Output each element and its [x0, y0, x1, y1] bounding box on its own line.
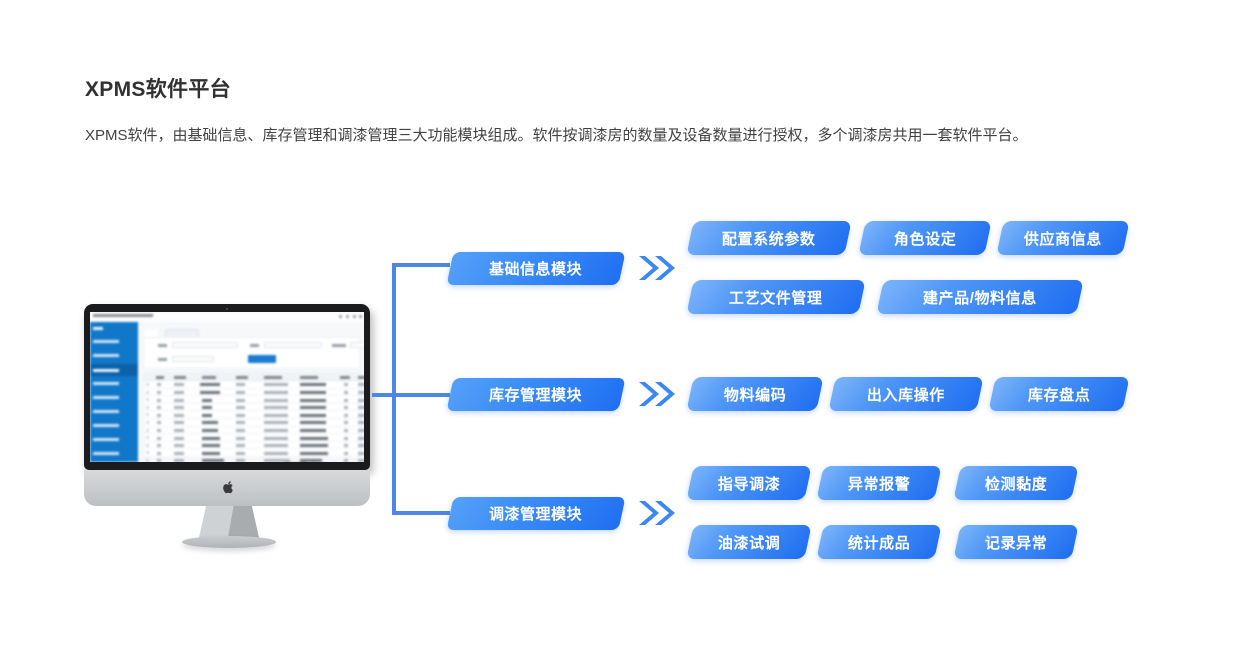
feature-pill-label: 供应商信息 [1024, 228, 1102, 249]
table-cell [157, 414, 161, 417]
table-row [144, 427, 359, 435]
row-checkbox [146, 398, 149, 401]
table-cell [344, 399, 348, 402]
table-cell [236, 459, 245, 462]
table-header-cell [300, 376, 318, 379]
table-cell [174, 391, 184, 394]
app-sidebar [90, 322, 138, 462]
table-cell [300, 406, 326, 409]
filter-label-1 [158, 344, 167, 347]
table-cell [358, 391, 364, 394]
feature-pill-inbound-outbound-operation[interactable]: 出入库操作 [828, 377, 983, 411]
table-cell [300, 414, 326, 417]
page-title: XPMS软件平台 [85, 73, 231, 103]
feature-pill-label: 物料编码 [724, 384, 786, 405]
table-cell [157, 452, 161, 455]
table-cell [174, 406, 184, 409]
feature-pill-paint-trial-mixing[interactable]: 油漆试调 [686, 525, 811, 559]
sidebar-item-2 [93, 354, 119, 357]
topbar-icon-2 [346, 315, 349, 318]
sidebar-item-8 [93, 438, 119, 441]
feature-pill-record-exception[interactable]: 记录异常 [953, 525, 1078, 559]
app-topbar [90, 312, 364, 322]
table-cell [264, 383, 288, 386]
table-cell [202, 444, 220, 447]
feature-pill-label: 统计成品 [848, 532, 910, 553]
feature-pill-label: 建产品/物料信息 [923, 287, 1037, 308]
filter-input-1 [172, 342, 238, 348]
table-cell [157, 383, 161, 386]
table-cell [236, 429, 245, 432]
table-cell [300, 383, 326, 386]
table-cell [202, 421, 218, 424]
table-cell [202, 429, 218, 432]
table-cell [200, 383, 220, 386]
table-cell [264, 437, 288, 440]
feature-pill-label: 油漆试调 [718, 532, 780, 553]
feature-pill-create-product-material-info[interactable]: 建产品/物料信息 [876, 280, 1083, 314]
double-chevron-right-icon [637, 253, 677, 283]
filter-input-2 [264, 342, 322, 348]
module-tag-label: 调漆管理模块 [489, 503, 582, 524]
table-cell [358, 444, 364, 447]
sidebar-item-4 [93, 382, 119, 385]
filter-label-5 [158, 358, 167, 361]
row-checkbox [146, 383, 149, 386]
double-chevron-right-icon [637, 379, 677, 409]
sidebar-item-active-label [93, 369, 119, 372]
feature-pill-role-setup[interactable]: 角色设定 [858, 221, 991, 255]
connector-vertical-line [392, 263, 396, 515]
topbar-icon-4 [359, 315, 362, 318]
table-header-cell [174, 376, 186, 379]
feature-pill-label: 工艺文件管理 [729, 287, 823, 308]
module-tag-basic-info[interactable]: 基础信息模块 [446, 252, 625, 285]
row-checkbox [146, 413, 149, 416]
table-cell [236, 452, 245, 455]
table-cell [157, 429, 161, 432]
table-row [144, 434, 359, 442]
table-cell [264, 444, 288, 447]
table-cell [236, 383, 245, 386]
feature-pill-guided-paint-mixing[interactable]: 指导调漆 [686, 466, 811, 500]
table-row [144, 404, 359, 412]
row-checkbox [146, 436, 149, 439]
table-cell [358, 452, 364, 455]
table-cell [344, 437, 348, 440]
slide-canvas: XPMS软件平台 XPMS软件，由基础信息、库存管理和调漆管理三大功能模块组成。… [0, 0, 1260, 650]
filter-label-3 [332, 344, 346, 347]
table-cell [157, 444, 161, 447]
filter-input-5 [172, 356, 214, 362]
table-row [144, 419, 359, 427]
table-cell [174, 429, 184, 432]
table-cell [174, 421, 184, 424]
filter-input-3 [350, 342, 364, 348]
connector-branch-bottom [392, 511, 450, 515]
table-cell [236, 421, 245, 424]
feature-pill-label: 出入库操作 [867, 384, 945, 405]
feature-pill-label: 配置系统参数 [722, 228, 816, 249]
table-cell [174, 452, 184, 455]
feature-pill-abnormal-alarm[interactable]: 异常报警 [816, 466, 941, 500]
apple-logo-icon [223, 480, 235, 495]
table-cell [300, 399, 326, 402]
feature-pill-label: 库存盘点 [1028, 384, 1090, 405]
table-cell [200, 391, 220, 394]
table-cell [344, 421, 348, 424]
connector-branch-top [392, 263, 450, 267]
module-tag-inventory[interactable]: 库存管理模块 [446, 378, 625, 411]
table-cell [264, 406, 288, 409]
topbar-icon-3 [353, 315, 356, 318]
table-cell [344, 383, 348, 386]
table-cell [344, 406, 348, 409]
table-cell [344, 444, 348, 447]
double-chevron-right-icon [637, 498, 677, 528]
table-header-cell [202, 376, 216, 379]
monitor-screen [90, 312, 364, 462]
table-cell [174, 399, 184, 402]
table-cell [300, 444, 328, 447]
feature-pill-viscosity-detection[interactable]: 检测黏度 [953, 466, 1078, 500]
table-cell [174, 437, 184, 440]
table-cell [236, 406, 245, 409]
filter-label-2 [250, 344, 259, 347]
table-header-row [144, 373, 359, 381]
sidebar-item-1 [93, 340, 119, 343]
table-cell [344, 429, 348, 432]
table-row [144, 396, 359, 404]
table-cell [174, 414, 184, 417]
table-cell [300, 421, 326, 424]
table-cell [300, 437, 328, 440]
sidebar-logo [93, 327, 103, 330]
feature-pill-configure-system-parameters[interactable]: 配置系统参数 [686, 221, 851, 255]
sidebar-item-active [90, 364, 138, 376]
table-row [144, 389, 359, 397]
row-checkbox [146, 421, 149, 424]
feature-pill-label: 异常报警 [848, 473, 910, 494]
table-header-cell [358, 376, 364, 379]
table-cell [236, 391, 245, 394]
feature-pill-material-code[interactable]: 物料编码 [686, 377, 823, 411]
table-header-cell [156, 376, 164, 379]
table-cell [344, 414, 348, 417]
module-tag-label: 基础信息模块 [489, 258, 582, 279]
table-cell [300, 429, 326, 432]
webcam-dot [226, 308, 228, 310]
table-header-cell [340, 376, 350, 379]
table-row [144, 411, 359, 419]
feature-pill-label: 检测黏度 [985, 473, 1047, 494]
table-cell [358, 406, 364, 409]
monitor-stand-base [182, 536, 276, 548]
app-screenshot [90, 312, 364, 462]
table-cell [358, 414, 364, 417]
data-table [143, 372, 360, 459]
table-cell [358, 399, 364, 402]
table-cell [264, 399, 288, 402]
table-cell [157, 459, 161, 462]
topbar-icon-1 [339, 315, 342, 318]
apple-logo-svg [223, 480, 235, 495]
table-cell [202, 452, 220, 455]
feature-pill-process-file-management[interactable]: 工艺文件管理 [686, 280, 865, 314]
table-cell [202, 459, 224, 462]
table-cell [358, 421, 364, 424]
row-checkbox [146, 391, 149, 394]
table-row [144, 381, 359, 389]
search-button [248, 355, 276, 363]
table-cell [264, 391, 288, 394]
feature-pill-label: 记录异常 [985, 532, 1047, 553]
app-content [138, 322, 364, 462]
table-cell [157, 399, 161, 402]
feature-pill-label: 指导调漆 [718, 473, 780, 494]
sidebar-item-9 [93, 452, 119, 455]
table-cell [202, 414, 212, 417]
imac-illustration [84, 304, 374, 546]
table-cell [264, 421, 288, 424]
table-cell [236, 414, 245, 417]
table-header-cell [264, 376, 282, 379]
table-cell [174, 383, 184, 386]
table-cell [157, 406, 161, 409]
table-cell [174, 459, 184, 462]
table-cell [202, 437, 220, 440]
monitor-bezel [84, 304, 370, 470]
table-header-cell [236, 376, 248, 379]
row-checkbox [146, 444, 149, 447]
app-window-title [93, 314, 153, 317]
row-checkbox [146, 429, 149, 432]
table-cell [344, 391, 348, 394]
table-cell [358, 437, 364, 440]
table-cell [236, 444, 245, 447]
page-description: XPMS软件，由基础信息、库存管理和调漆管理三大功能模块组成。软件按调漆房的数量… [85, 118, 1163, 154]
table-cell [157, 437, 161, 440]
sidebar-item-6 [93, 410, 119, 413]
table-cell [157, 421, 161, 424]
table-cell [264, 429, 288, 432]
row-checkbox [146, 406, 149, 409]
table-cell [358, 459, 364, 462]
table-cell [300, 391, 326, 394]
table-row [144, 442, 359, 450]
table-cell [236, 399, 245, 402]
module-tag-paint-mixing[interactable]: 调漆管理模块 [446, 497, 625, 530]
table-cell [358, 383, 364, 386]
table-cell [202, 406, 212, 409]
module-tag-label: 库存管理模块 [489, 384, 582, 405]
feature-pill-inventory-count[interactable]: 库存盘点 [988, 377, 1129, 411]
connector-branch-middle [372, 393, 450, 397]
sidebar-item-7 [93, 424, 119, 427]
table-cell [264, 414, 288, 417]
table-cell [157, 391, 161, 394]
feature-pill-finished-product-statistics[interactable]: 统计成品 [816, 525, 941, 559]
sidebar-item-5 [93, 396, 119, 399]
table-pagination [284, 453, 356, 457]
filter-panel [143, 337, 360, 369]
row-checkbox [146, 459, 149, 462]
feature-pill-label: 角色设定 [894, 228, 956, 249]
table-cell [358, 429, 364, 432]
table-cell [202, 399, 212, 402]
table-cell [174, 444, 184, 447]
row-checkbox [146, 451, 149, 454]
feature-pill-supplier-info[interactable]: 供应商信息 [996, 221, 1129, 255]
app-tabs [144, 325, 202, 334]
table-cell [236, 437, 245, 440]
